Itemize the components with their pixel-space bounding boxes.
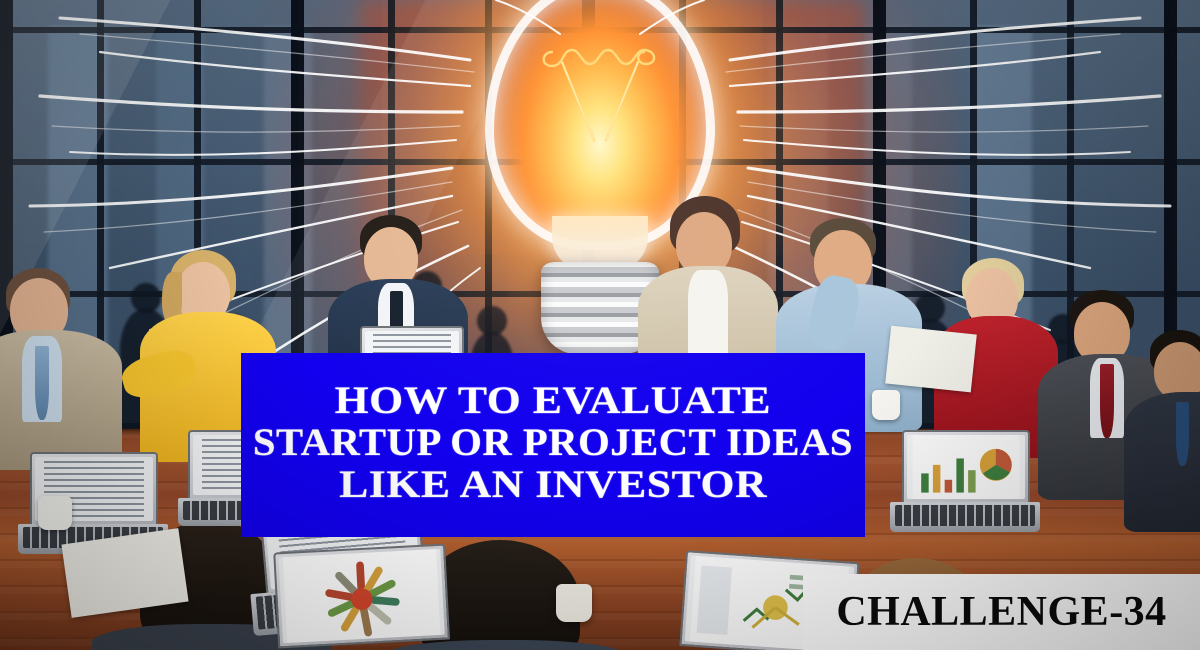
radial-chart-on-screen	[278, 549, 444, 643]
title-line-3: LIKE AN INVESTOR	[339, 464, 767, 506]
title-line-1: HOW TO EVALUATE	[335, 380, 771, 422]
coffee-cup	[38, 496, 72, 530]
paper-document	[885, 326, 977, 393]
thumbnail-canvas: HOW TO EVALUATE STARTUP OR PROJECT IDEAS…	[0, 0, 1200, 650]
laptop-screen	[278, 549, 444, 643]
tie	[1176, 402, 1189, 466]
laptop-screen	[907, 435, 1025, 499]
laptop	[890, 430, 1040, 538]
tie	[1100, 364, 1114, 438]
bulb-filament-icon	[536, 30, 664, 150]
person-dark-suit-blue-tie	[1136, 330, 1200, 530]
coffee-cup	[556, 584, 592, 622]
challenge-badge: CHALLENGE-34	[803, 574, 1200, 650]
title-banner: HOW TO EVALUATE STARTUP OR PROJECT IDEAS…	[241, 353, 865, 537]
laptop-base	[890, 502, 1040, 532]
person-beige-blazer	[0, 268, 128, 468]
title-line-2: STARTUP OR PROJECT IDEAS	[253, 422, 853, 464]
laptop-keyboard	[895, 505, 1035, 526]
tie	[35, 346, 49, 420]
laptop	[259, 543, 464, 650]
laptop-lid	[902, 430, 1030, 504]
laptop-lid	[273, 544, 450, 649]
shirt	[688, 270, 728, 362]
coffee-cup	[872, 390, 900, 420]
challenge-badge-label: CHALLENGE-34	[836, 588, 1166, 636]
chart-on-screen	[907, 435, 1025, 499]
